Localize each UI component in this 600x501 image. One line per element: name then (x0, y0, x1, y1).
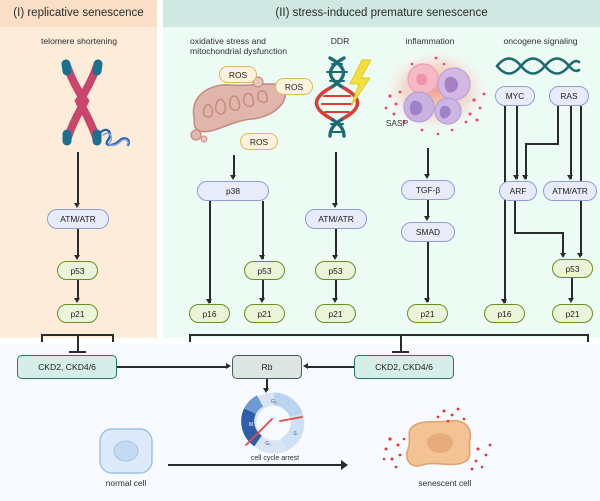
arrow-ras-to-arf-seg1 (557, 106, 559, 144)
arrow-myc-to-arf (516, 106, 518, 179)
arrowhead-smad-p21-inf (424, 298, 430, 303)
arrow-p53-to-p21-left (77, 280, 79, 300)
node-atm-atr-oncogene[interactable]: ATM/ATR (543, 181, 597, 201)
arrow-atm-to-p53-left (77, 229, 79, 257)
arrow-ckd-left-to-rb (117, 366, 227, 368)
arrow-arf-to-p53-seg2 (514, 232, 564, 234)
node-ckd-left[interactable]: CKD2, CKD4/6 (17, 355, 117, 379)
bracket-right-horizontal (189, 334, 589, 336)
arrow-p38-to-p16 (209, 201, 211, 303)
arrowhead-atm-p53-ddr (332, 255, 338, 260)
column-title-ddr: DDR (310, 36, 370, 46)
node-p53-ddr[interactable]: p53 (315, 261, 356, 280)
sasp-inflammation-graphic (378, 50, 494, 146)
arrowhead-normal-senescent (341, 460, 348, 470)
node-p53-oxidative[interactable]: p53 (244, 261, 285, 280)
node-ros-1[interactable]: ROS (219, 66, 257, 83)
node-p53-oncogene[interactable]: p53 (552, 259, 593, 278)
arrowhead-myc-arf (513, 175, 519, 180)
cell-cycle-graphic: G₀ S G₁ M (238, 393, 310, 453)
arrowhead-sasp-tgfb (424, 174, 430, 179)
arrow-sasp-to-tgfb (427, 148, 429, 176)
arrowhead-atm-p53-left (74, 255, 80, 260)
node-rb[interactable]: Rb (232, 355, 302, 379)
column-title-telomere: telomere shortening (18, 36, 140, 46)
node-atm-atr-ddr[interactable]: ATM/ATR (305, 209, 367, 229)
arrowhead-dna-atm-ddr (332, 203, 338, 208)
column-title-oxidative-line2: mitochondrial dysfunction (190, 46, 320, 56)
node-tgf-beta[interactable]: TGF-β (401, 180, 455, 200)
node-p16-oncogene[interactable]: p16 (484, 304, 525, 323)
arrowhead-ckd-left-rb (226, 363, 231, 369)
column-title-oxidative-line1: oxidative stress and (190, 36, 310, 46)
arrow-p38-to-p53-ox (262, 201, 264, 259)
arrow-dna-to-atm-ddr (335, 152, 337, 205)
inhibit-left-bar (69, 351, 86, 353)
arrowhead-p38-p53-ox (259, 255, 265, 260)
arrowhead-ros-p38 (230, 175, 236, 180)
senescent-cell-graphic (378, 405, 508, 477)
node-p21-ddr[interactable]: p21 (315, 304, 356, 323)
label-normal-cell: normal cell (90, 478, 162, 488)
arrow-p53-to-p21-onco (571, 278, 573, 300)
node-p16-oxidative[interactable]: p16 (189, 304, 230, 323)
label-cell-cycle-arrest: cell cycle arrest (222, 455, 328, 462)
arrowhead-p53-p21-left (74, 298, 80, 303)
arrowhead-tgfb-smad (424, 216, 430, 221)
arrow-smad-to-p21-inf (427, 242, 429, 302)
arrow-ckd-right-to-rb (308, 366, 354, 368)
node-ckd-right[interactable]: CKD2, CKD4/6 (354, 355, 454, 379)
node-arf[interactable]: ARF (499, 181, 537, 201)
node-ros-2[interactable]: ROS (275, 78, 313, 95)
arrow-p53-to-p21-ox (262, 280, 264, 300)
node-p21-oncogene[interactable]: p21 (552, 304, 593, 323)
arrow-myc-to-p16 (504, 106, 506, 303)
bracket-left-tick-a (41, 334, 43, 342)
arrowhead-ckd-right-rb (303, 363, 308, 369)
bracket-right-tick-a (189, 334, 191, 342)
svg-text:M: M (249, 422, 253, 428)
node-p38[interactable]: p38 (197, 181, 269, 201)
node-p21-oxidative[interactable]: p21 (244, 304, 285, 323)
node-p53-replicative[interactable]: p53 (57, 261, 98, 280)
node-smad[interactable]: SMAD (401, 222, 455, 242)
bracket-right-tick-b (587, 334, 589, 342)
arrow-ras-to-arf-seg2 (525, 143, 559, 145)
oncogene-dna-graphic (495, 56, 581, 76)
inhibit-right-bar (392, 351, 409, 353)
arrowhead-p53-p21-ox (259, 298, 265, 303)
arrowhead-chromosome-atm (74, 203, 80, 208)
node-myc[interactable]: MYC (495, 86, 535, 106)
chromosome-telomere-graphic (45, 54, 150, 148)
panel-title-replicative: (I) replicative senescence (0, 4, 157, 23)
label-sasp: SASP (376, 118, 418, 128)
inhibit-left-stem (77, 334, 79, 352)
arrowhead-ras-arf (522, 175, 528, 180)
arrowhead-p53-p21-ddr (332, 298, 338, 303)
node-p21-replicative[interactable]: p21 (57, 304, 98, 323)
arrowhead-arf-p53 (560, 253, 566, 258)
arrowhead-p53-p21-onco (568, 298, 574, 303)
dna-damage-graphic (318, 56, 378, 138)
column-title-inflammation: inflammation (385, 36, 475, 46)
arrow-arf-to-p53-seg1 (514, 201, 516, 233)
svg-text:G₁: G₁ (265, 441, 271, 447)
label-senescent-cell: senescent cell (400, 478, 490, 488)
arrow-p53-to-p21-ddr (335, 280, 337, 300)
arrow-normal-to-senescent (168, 464, 343, 466)
arrowhead-ras-p53-onco (577, 253, 583, 258)
arrowhead-ras-atm-onco (567, 175, 573, 180)
svg-text:G₀: G₀ (271, 399, 277, 405)
arrow-chromosome-to-atm (77, 152, 79, 205)
bracket-left-tick-b (112, 334, 114, 342)
arrow-ras-to-atm-onco (570, 106, 572, 179)
inhibit-right-stem (400, 334, 402, 352)
arrow-ras-to-arf-seg3 (525, 143, 527, 179)
figure-senescence-pathways: (I) replicative senescence (II) stress-i… (0, 0, 600, 501)
column-title-oncogene: oncogene signaling (488, 36, 593, 46)
node-ras[interactable]: RAS (549, 86, 589, 106)
node-ros-3[interactable]: ROS (240, 133, 278, 150)
normal-cell-graphic (98, 427, 154, 475)
node-p21-inflammation[interactable]: p21 (407, 304, 448, 323)
panel-title-stress-induced: (II) stress-induced premature senescence (163, 4, 600, 23)
node-atm-atr-replicative[interactable]: ATM/ATR (47, 209, 109, 229)
arrow-ros-to-p38 (233, 155, 235, 177)
arrow-atm-to-p53-ddr (335, 229, 337, 257)
